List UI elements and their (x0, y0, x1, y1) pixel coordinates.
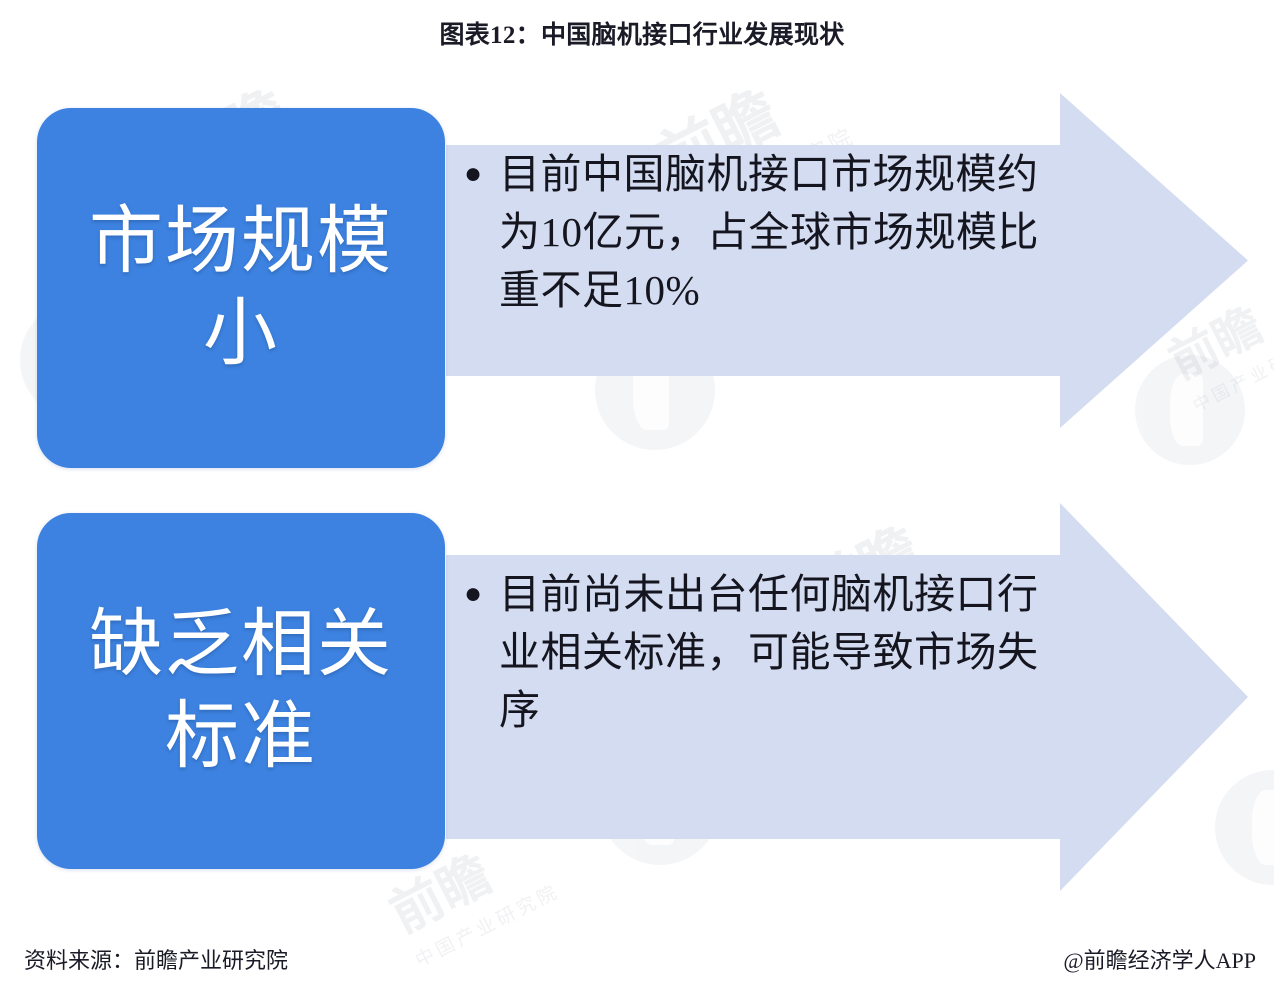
arrow-detail-text: ● 目前尚未出台任何脑机接口行业相关标准，可能导致市场失序 (464, 565, 1064, 739)
bullet-icon: ● (464, 145, 483, 203)
label-box-label: 缺乏相关标准 (37, 599, 445, 783)
label-box-market-size[interactable]: 市场规模小 (37, 108, 445, 468)
page-title: 图表12：中国脑机接口行业发展现状 (0, 20, 1274, 52)
arrow-detail-label: 目前尚未出台任何脑机接口行业相关标准，可能导致市场失序 (499, 565, 1064, 739)
label-box-lack-of-standards[interactable]: 缺乏相关标准 (37, 513, 445, 869)
arrow-detail-label: 目前中国脑机接口市场规模约为10亿元，占全球市场规模比重不足10% (499, 145, 1064, 319)
source-note: 资料来源：前瞻产业研究院 (24, 946, 288, 976)
attribution-note: @前瞻经济学人APP (1063, 946, 1256, 976)
arrow-detail-text: ● 目前中国脑机接口市场规模约为10亿元，占全球市场规模比重不足10% (464, 145, 1064, 319)
label-box-label: 市场规模小 (37, 196, 445, 380)
bullet-icon: ● (464, 565, 483, 623)
infographic-page: 图表12：中国脑机接口行业发展现状 前瞻中国产业研究院 前瞻中国产业研究院 前瞻… (0, 0, 1274, 996)
